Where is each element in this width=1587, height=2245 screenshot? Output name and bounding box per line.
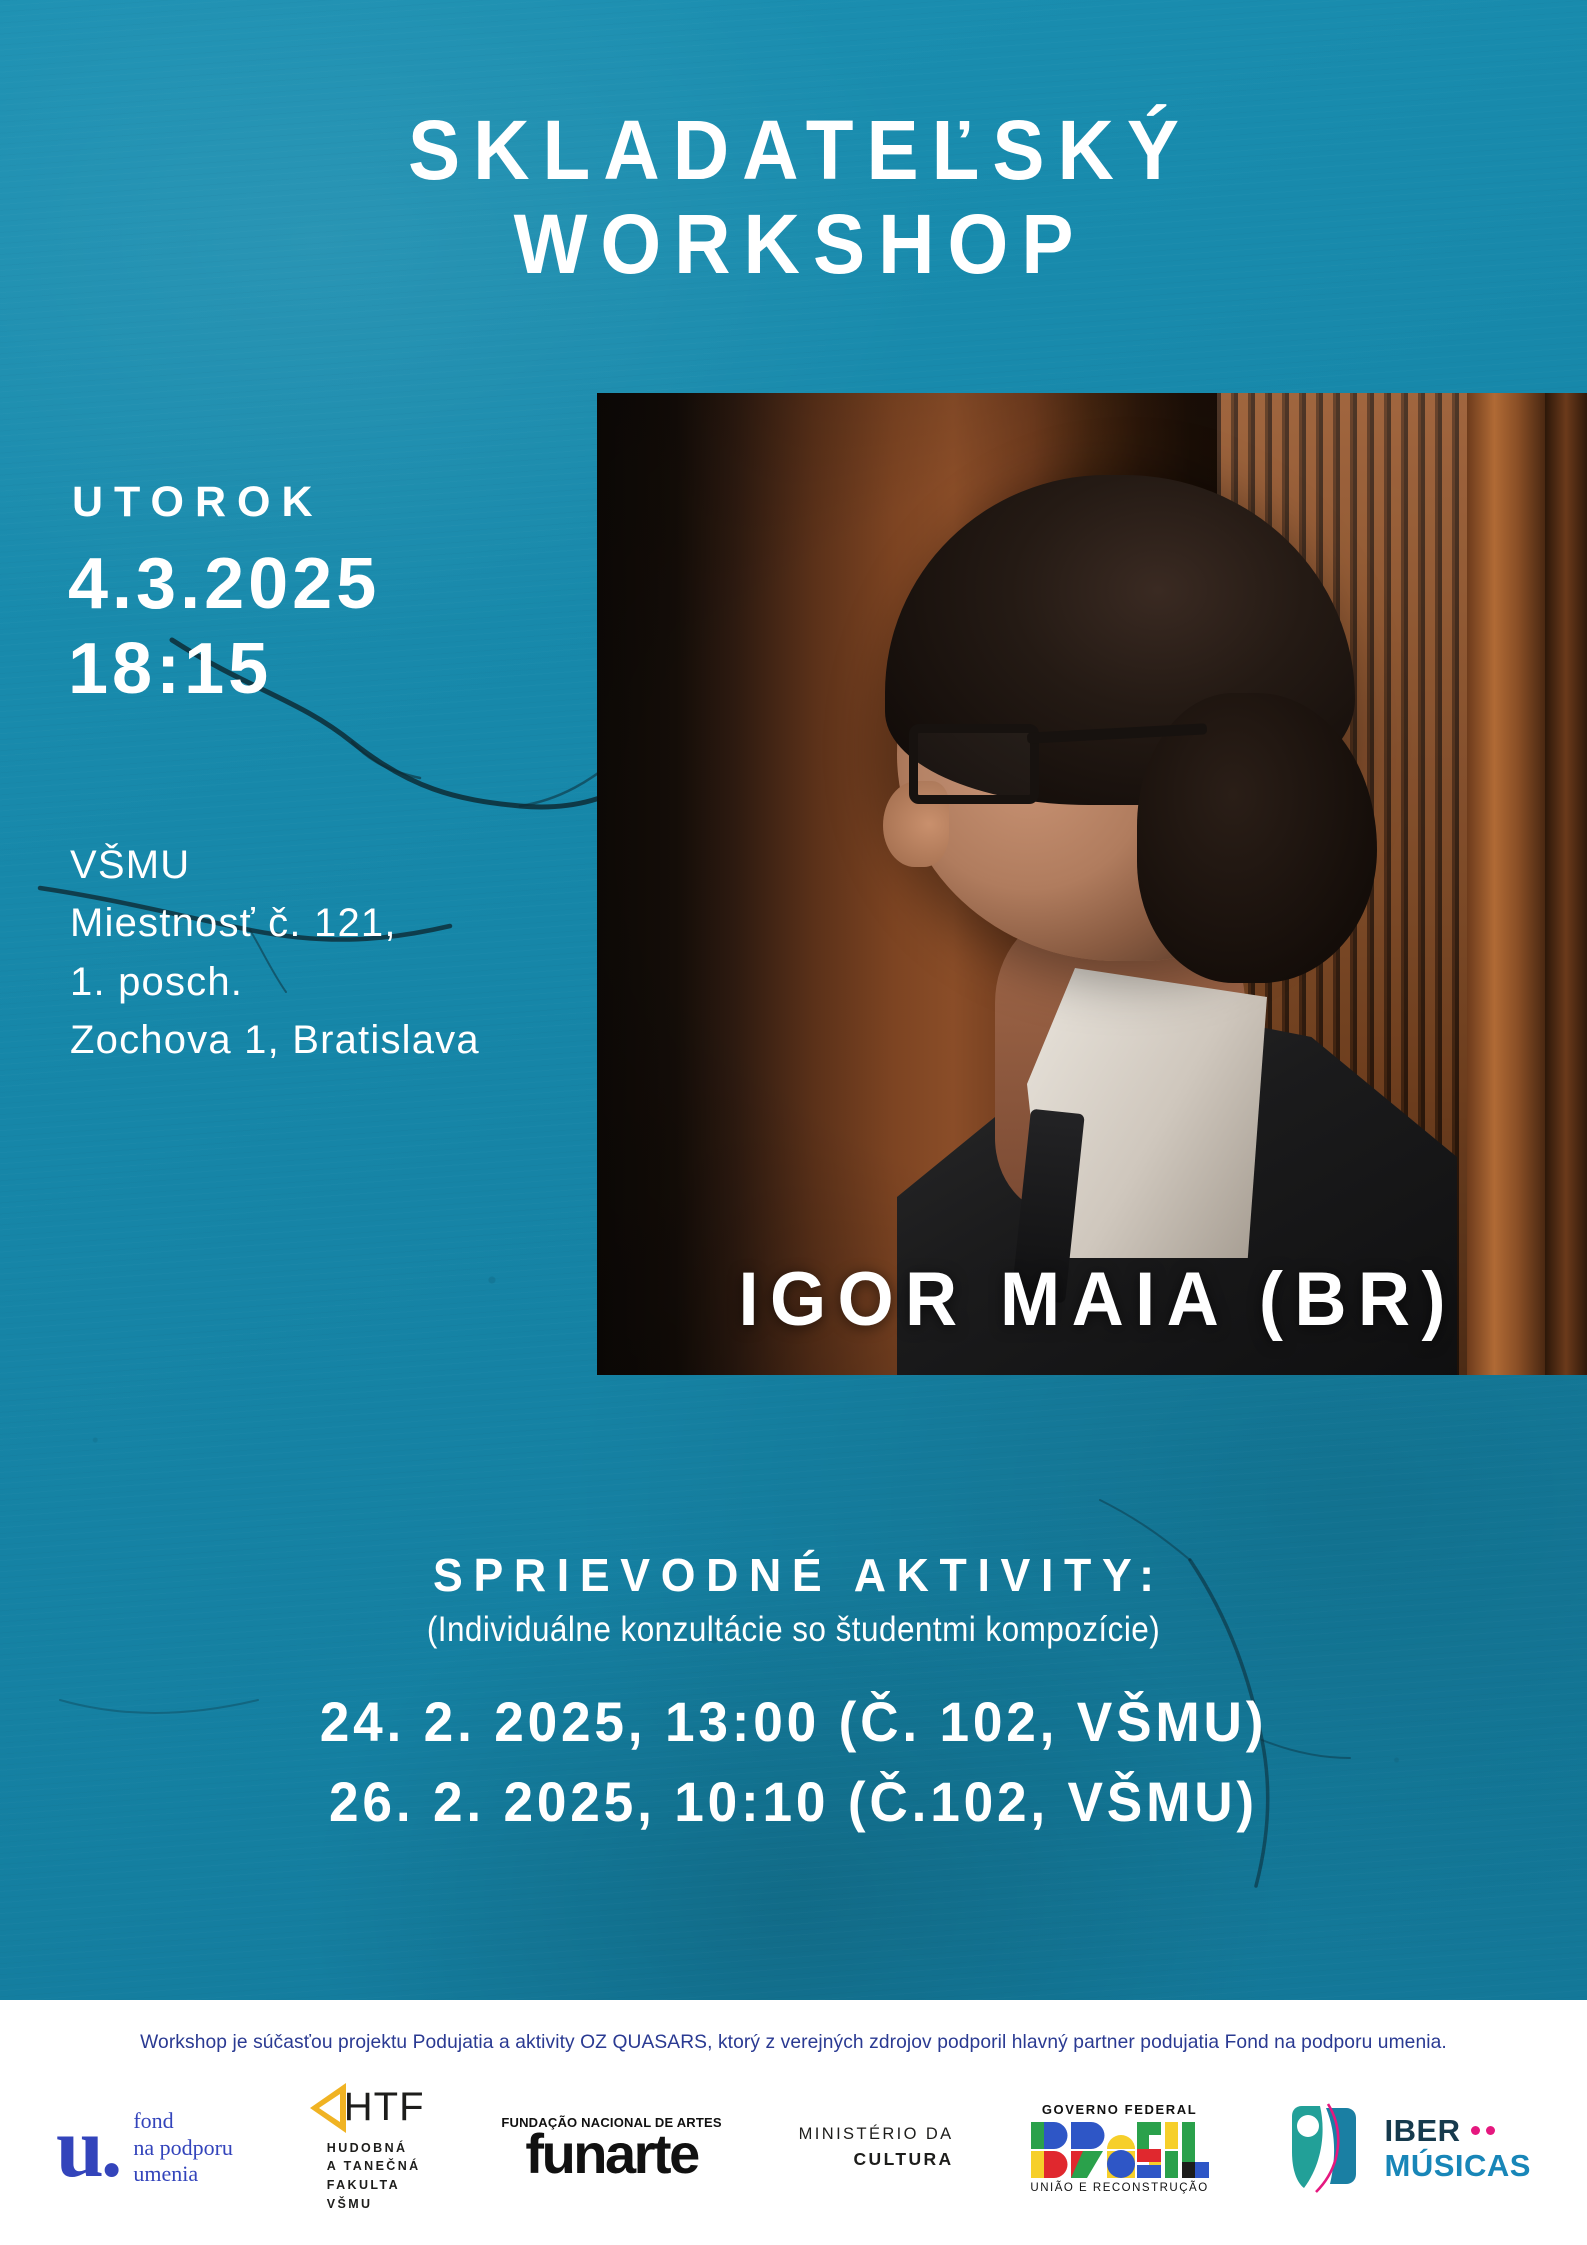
logo-fond-na-podporu-umenia: u. fond na podporu umenia (56, 2108, 233, 2188)
guest-name: IGOR MAIA (BR) (622, 1256, 1563, 1343)
fpu-line-1: fond (133, 2108, 233, 2135)
brasil-top-label: GOVERNO FEDERAL (1042, 2102, 1197, 2117)
event-venue: VŠMU Miestnosť č. 121, 1. posch. Zochova… (70, 836, 480, 1070)
activity-item: 26. 2. 2025, 10:10 (Č.102, VŠMU) (40, 1762, 1548, 1842)
htf-sub-line-4: VŠMU (327, 2195, 421, 2214)
ibermusicas-wordmark: IBER MÚSICAS (1385, 2115, 1531, 2181)
portrait-glasses (909, 718, 1169, 796)
title-line-2: WORKSHOP (56, 202, 1532, 288)
venue-line-1: VŠMU (70, 836, 480, 894)
glasses-lens (909, 724, 1039, 804)
logo-htf-vsmu: HTF HUDOBNÁ A TANEČNÁ FAKULTA VŠMU (310, 2083, 425, 2214)
fpu-wordmark: fond na podporu umenia (133, 2108, 233, 2188)
activities-subtitle: (Individuálne konzultácie so študentmi k… (79, 1610, 1507, 1650)
venue-line-3: 1. posch. (70, 953, 480, 1011)
event-date: 4.3.2025 (68, 544, 380, 624)
fpu-line-3: umenia (133, 2161, 233, 2188)
event-day-label: UTOROK (72, 478, 324, 527)
accompanying-activities: SPRIEVODNÉ AKTIVITY: (Individuálne konzu… (0, 1548, 1587, 1841)
fpu-line-2: na podporu (133, 2135, 233, 2162)
logo-ibermusicas: IBER MÚSICAS (1286, 2102, 1531, 2194)
page-title: SKLADATEĽSKÝ WORKSHOP (56, 108, 1532, 287)
htf-sub-line-2: A TANEČNÁ (327, 2157, 421, 2176)
guest-portrait-photo: IGOR MAIA (BR) (597, 393, 1587, 1375)
activities-list: 24. 2. 2025, 13:00 (Č. 102, VŠMU) 26. 2.… (40, 1682, 1548, 1841)
funarte-wordmark: funarte (525, 2127, 697, 2180)
portrait-backdrop (597, 393, 1587, 1375)
logo-funarte: FUNDAÇÃO NACIONAL DE ARTES funarte (501, 2115, 721, 2180)
mincult-line-1: MINISTÉRIO DA (799, 2123, 954, 2147)
brasil-wordmark-icon (1031, 2122, 1209, 2178)
event-time: 18:15 (68, 627, 380, 712)
htf-sub-line-1: HUDOBNÁ (327, 2139, 421, 2158)
htf-triangle-icon (310, 2083, 346, 2133)
activities-title: SPRIEVODNÉ AKTIVITY: (24, 1548, 1563, 1602)
wood-post-right (1545, 393, 1587, 1375)
sponsor-logo-row: u. fond na podporu umenia HTF HUDOBNÁ A … (56, 2078, 1531, 2218)
ibermusicas-line-1: IBER (1385, 2115, 1461, 2146)
venue-line-4: Zochova 1, Bratislava (70, 1011, 480, 1069)
event-datetime: 4.3.2025 18:15 (68, 542, 380, 712)
logo-ministerio-da-cultura: MINISTÉRIO DA CULTURA (799, 2123, 954, 2172)
poster: SKLADATEĽSKÝ WORKSHOP UTOROK 4.3.2025 18… (0, 0, 1587, 2245)
htf-subtitle: HUDOBNÁ A TANEČNÁ FAKULTA VŠMU (327, 2139, 421, 2214)
htf-letters: HTF (344, 2085, 425, 2130)
ibermusicas-line-2: MÚSICAS (1385, 2150, 1531, 2181)
footer-note: Workshop je súčasťou projektu Podujatia … (12, 2031, 1575, 2054)
footer: Workshop je súčasťou projektu Podujatia … (0, 2000, 1587, 2245)
logo-governo-federal-brasil: GOVERNO FEDERAL (1030, 2102, 1208, 2194)
htf-sub-line-3: FAKULTA (327, 2176, 421, 2195)
ibermusicas-row-1: IBER (1385, 2115, 1531, 2146)
wood-post-left (1467, 393, 1545, 1375)
brasil-bottom-label: UNIÃO E RECONSTRUÇÃO (1030, 2182, 1208, 2194)
title-line-1: SKLADATEĽSKÝ (408, 103, 1192, 197)
ibermusicas-dots-icon (1471, 2126, 1495, 2135)
ibermusicas-symbol-icon (1286, 2102, 1372, 2194)
fpu-mark-icon: u. (56, 2114, 119, 2181)
venue-line-2: Miestnosť č. 121, (70, 894, 480, 952)
htf-lockup: HTF (310, 2083, 425, 2133)
activity-item: 24. 2. 2025, 13:00 (Č. 102, VŠMU) (40, 1682, 1548, 1762)
mincult-line-2: CULTURA (854, 2147, 954, 2172)
